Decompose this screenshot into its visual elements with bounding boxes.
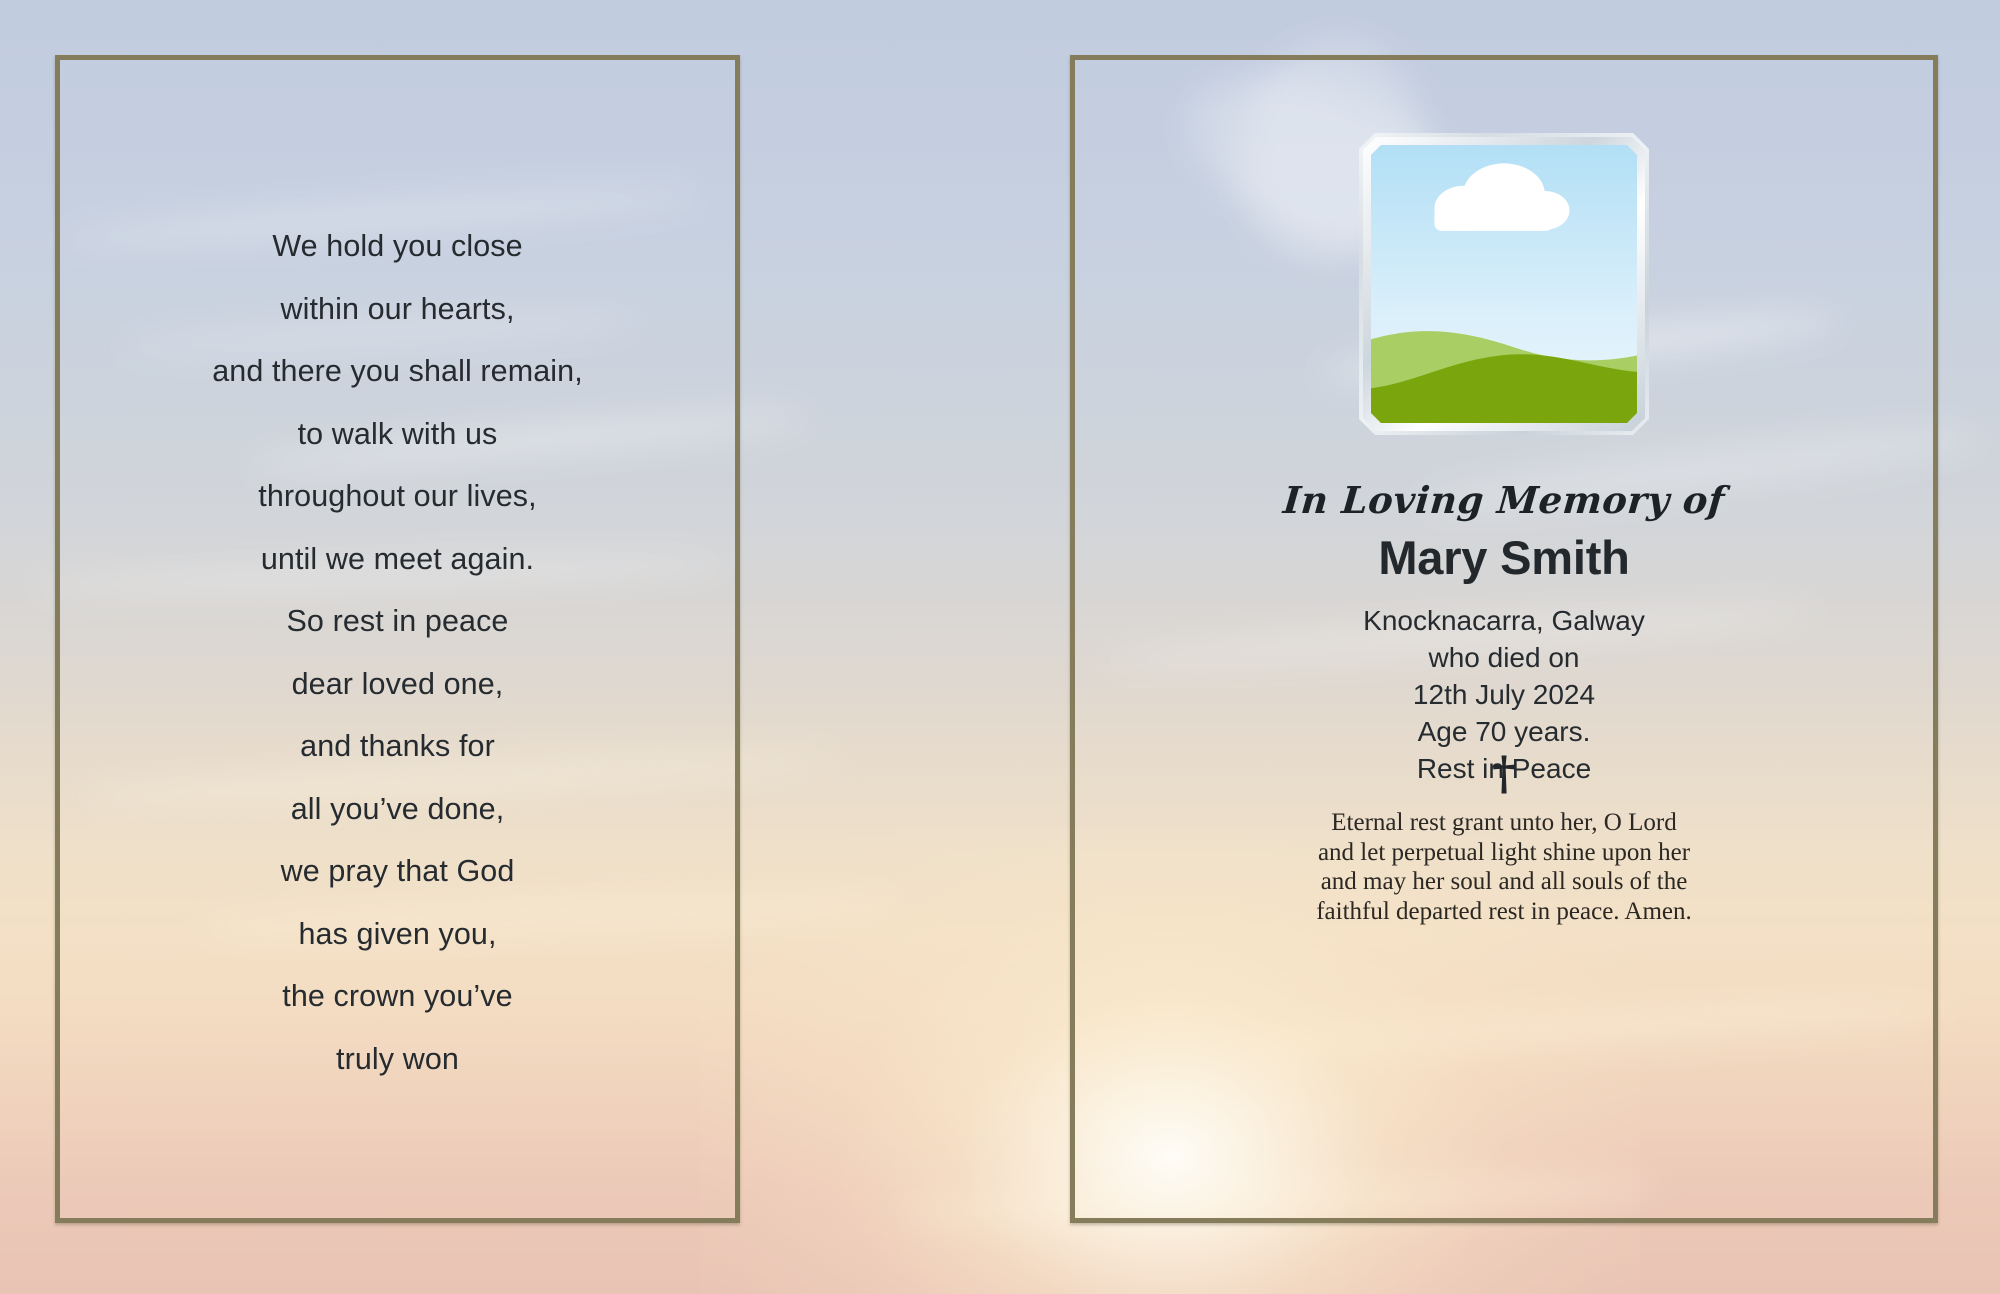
poem-line: to walk with us bbox=[60, 403, 735, 466]
detail-line-who-died: who died on bbox=[1075, 639, 1933, 676]
memorial-content: In Loving Memory of Mary Smith Knocknaca… bbox=[1075, 60, 1933, 1218]
detail-line-address: Knocknacarra, Galway bbox=[1075, 602, 1933, 639]
memorial-poem: We hold you close within our hearts, and… bbox=[60, 215, 735, 1090]
poem-line: and thanks for bbox=[60, 715, 735, 778]
prayer-line: faithful departed rest in peace. Amen. bbox=[1075, 897, 1933, 927]
in-loving-memory-heading: In Loving Memory of bbox=[1073, 478, 1935, 522]
poem-line: dear loved one, bbox=[60, 653, 735, 716]
detail-line-date: 12th July 2024 bbox=[1075, 676, 1933, 713]
poem-line: all you’ve done, bbox=[60, 778, 735, 841]
poem-line: truly won bbox=[60, 1028, 735, 1091]
right-card-panel: In Loving Memory of Mary Smith Knocknaca… bbox=[1070, 55, 1938, 1223]
poem-line: we pray that God bbox=[60, 840, 735, 903]
poem-line: So rest in peace bbox=[60, 590, 735, 653]
poem-line: within our hearts, bbox=[60, 278, 735, 341]
prayer-line: and may her soul and all souls of the bbox=[1075, 867, 1933, 897]
poem-line: until we meet again. bbox=[60, 528, 735, 591]
poem-line: the crown you’ve bbox=[60, 965, 735, 1028]
prayer-text: Eternal rest grant unto her, O Lord and … bbox=[1075, 808, 1933, 926]
left-card-panel: We hold you close within our hearts, and… bbox=[55, 55, 740, 1223]
prayer-line: and let perpetual light shine upon her bbox=[1075, 838, 1933, 868]
photo-frame-bevel bbox=[1363, 137, 1645, 431]
cross-icon: † bbox=[1075, 750, 1933, 796]
poem-line: and there you shall remain, bbox=[60, 340, 735, 403]
poem-line: We hold you close bbox=[60, 215, 735, 278]
poem-line: has given you, bbox=[60, 903, 735, 966]
landscape-photo-icon bbox=[1371, 145, 1637, 423]
detail-line-age: Age 70 years. bbox=[1075, 713, 1933, 750]
photo-frame bbox=[1359, 133, 1649, 435]
prayer-line: Eternal rest grant unto her, O Lord bbox=[1075, 808, 1933, 838]
deceased-name: Mary Smith bbox=[1075, 530, 1933, 585]
poem-line: throughout our lives, bbox=[60, 465, 735, 528]
